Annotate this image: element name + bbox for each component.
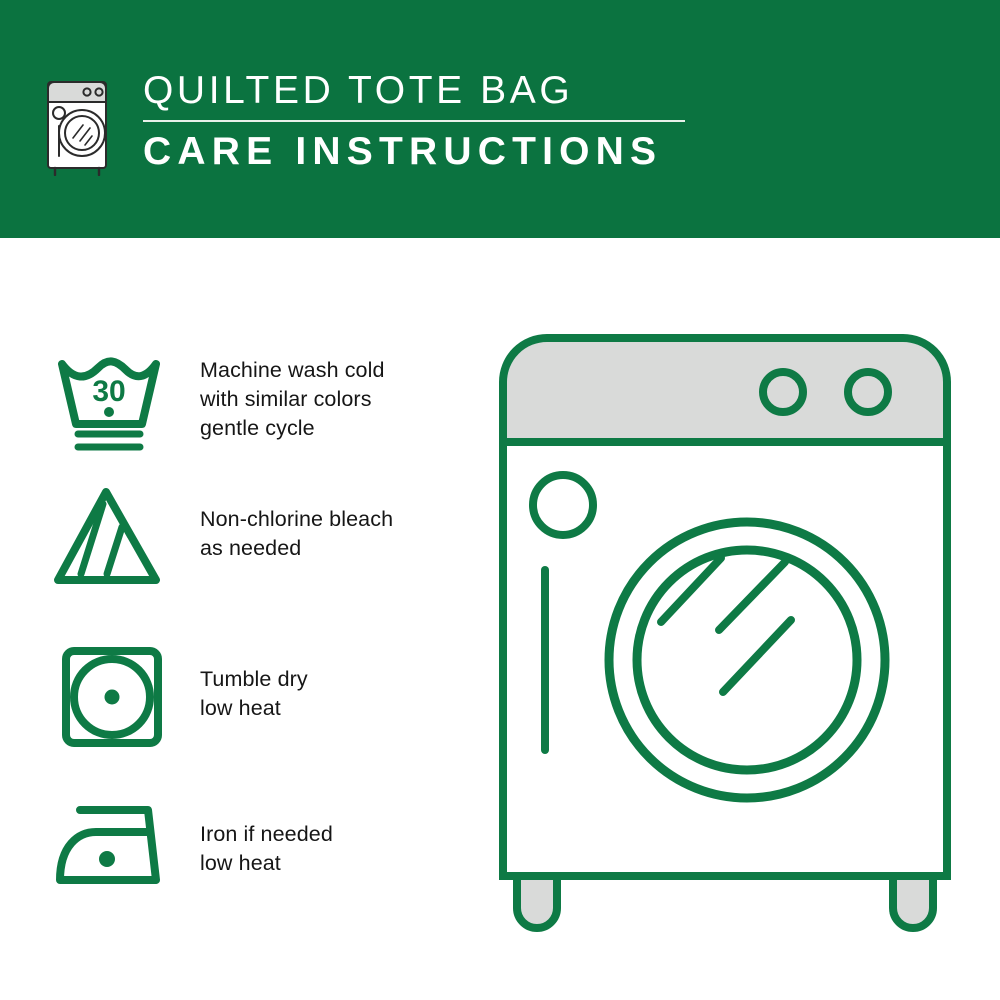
care-item-line: Tumble dry [200, 665, 475, 694]
care-item-line: gentle cycle [200, 414, 475, 443]
header-band: QUILTED TOTE BAG CARE INSTRUCTIONS [0, 0, 1000, 238]
wash-temperature-value: 30 [92, 375, 125, 408]
care-item-line: Machine wash cold [200, 356, 475, 385]
washing-machine-icon [42, 68, 114, 176]
care-item-line: Iron if needed [200, 820, 475, 849]
care-item-tumble-dry: Tumble dry low heat [0, 633, 470, 783]
care-instructions-page: QUILTED TOTE BAG CARE INSTRUCTIONS 30 [0, 0, 1000, 1000]
care-item-line: low heat [200, 849, 475, 878]
care-item-iron: Iron if needed low heat [0, 788, 470, 938]
care-item-label: Non-chlorine bleach as needed [200, 505, 475, 563]
page-title-product: QUILTED TOTE BAG [140, 68, 700, 114]
care-item-machine-wash: 30 Machine wash cold with similar colors… [0, 338, 470, 488]
care-item-bleach: Non-chlorine bleach as needed [0, 478, 470, 628]
iron-low-heat-icon [52, 802, 172, 912]
non-chlorine-bleach-triangle-icon [50, 482, 170, 592]
tumble-dry-low-heat-icon [58, 643, 178, 753]
care-item-line: Non-chlorine bleach [200, 505, 475, 534]
care-item-label: Machine wash cold with similar colors ge… [200, 356, 475, 443]
machine-cabinet [503, 442, 947, 876]
care-item-line: with similar colors [200, 385, 475, 414]
care-item-line: low heat [200, 694, 475, 723]
care-instructions-list: 30 Machine wash cold with similar colors… [0, 238, 500, 1000]
machine-control-panel [503, 338, 947, 442]
washing-machine-illustration [495, 330, 975, 940]
header-text-block: QUILTED TOTE BAG CARE INSTRUCTIONS [140, 68, 700, 180]
care-item-line: as needed [200, 534, 475, 563]
care-item-label: Tumble dry low heat [200, 665, 475, 723]
wash-tub-30-gentle-icon: 30 [50, 346, 170, 456]
header-divider [143, 120, 685, 122]
page-title-care: CARE INSTRUCTIONS [140, 129, 700, 174]
care-item-label: Iron if needed low heat [200, 820, 475, 878]
